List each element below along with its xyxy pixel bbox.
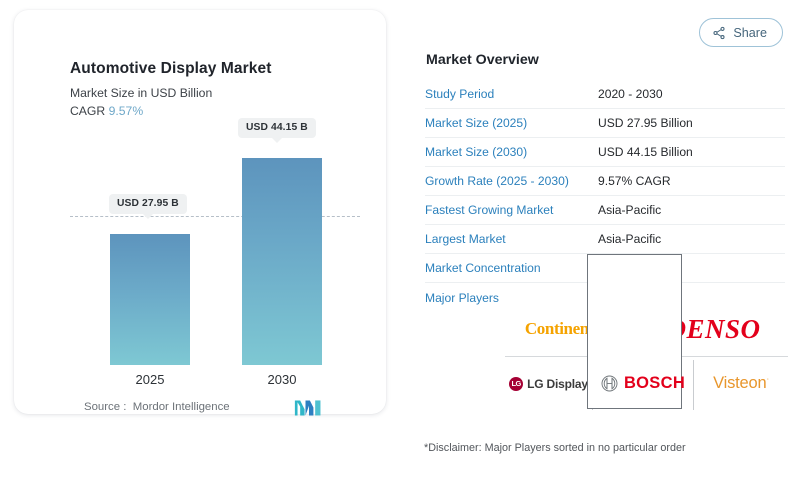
bosch-logo: BOSCH <box>601 374 685 393</box>
visteon-logo: Visteon· <box>713 374 769 393</box>
logo-cell-lg-display: LG LG Display <box>505 357 592 410</box>
row-label: Market Concentration <box>425 261 598 275</box>
row-value: Asia-Pacific <box>598 203 661 217</box>
disclaimer-text: *Disclaimer: Major Players sorted in no … <box>424 442 686 454</box>
logo-cell-bosch: BOSCH <box>593 357 693 410</box>
lg-display-logo-text: LG Display <box>527 377 588 391</box>
table-row: Largest Market Asia-Pacific <box>425 225 785 254</box>
bar-chart-plot-area: USD 27.95 B USD 44.15 B 2025 2030 <box>70 140 360 365</box>
table-row: Growth Rate (2025 - 2030) 9.57% CAGR <box>425 167 785 196</box>
bosch-logo-text: BOSCH <box>624 374 685 393</box>
market-overview-title: Market Overview <box>426 52 539 68</box>
row-label: Fastest Growing Market <box>425 203 598 217</box>
row-label: Market Size (2030) <box>425 145 598 159</box>
source-row: Source : Mordor Intelligence <box>84 401 230 413</box>
cagr-value: 9.57% <box>109 104 144 118</box>
bar-2030[interactable] <box>242 158 322 365</box>
row-label: Market Size (2025) <box>425 116 598 130</box>
major-players-logo-grid: Continental⚲ DENSO LG LG Display BOSCH V… <box>505 303 788 410</box>
lg-display-logo: LG LG Display <box>509 377 588 391</box>
source-name: Mordor Intelligence <box>133 401 230 413</box>
bar-label-2030: USD 44.15 B <box>238 118 316 138</box>
bosch-anchor-icon <box>601 375 618 392</box>
row-value: 2020 - 2030 <box>598 87 663 101</box>
source-label: Source : <box>84 401 126 413</box>
table-row: Fastest Growing Market Asia-Pacific <box>425 196 785 225</box>
share-button-label: Share <box>733 26 767 40</box>
lg-roundel-icon: LG <box>509 377 523 391</box>
visteon-logo-text: Visteon <box>713 374 766 392</box>
row-label: Study Period <box>425 87 598 101</box>
chart-subtitle: Market Size in USD Billion <box>70 86 212 100</box>
visteon-trademark-icon: · <box>766 375 768 384</box>
row-label: Growth Rate (2025 - 2030) <box>425 174 598 188</box>
cagr-label: CAGR <box>70 104 105 118</box>
bar-label-2025: USD 27.95 B <box>109 194 187 214</box>
cagr-line: CAGR 9.57% <box>70 104 143 118</box>
row-label: Largest Market <box>425 232 598 246</box>
row-value: Asia-Pacific <box>598 232 661 246</box>
row-value: USD 44.15 Billion <box>598 145 693 159</box>
row-value: 9.57% CAGR <box>598 174 671 188</box>
x-axis-label-2030: 2030 <box>242 372 322 387</box>
chart-card: Automotive Display Market Market Size in… <box>14 10 386 414</box>
bar-2025[interactable] <box>110 234 190 365</box>
logo-cell-visteon: Visteon· <box>694 357 788 410</box>
share-button[interactable]: Share <box>699 18 783 47</box>
table-row: Market Size (2030) USD 44.15 Billion <box>425 138 785 167</box>
x-axis-label-2025: 2025 <box>110 372 190 387</box>
table-row: Study Period 2020 - 2030 <box>425 80 785 109</box>
chart-title: Automotive Display Market <box>70 60 271 78</box>
share-icon <box>712 26 726 40</box>
table-row: Market Size (2025) USD 27.95 Billion <box>425 109 785 138</box>
row-value: USD 27.95 Billion <box>598 116 693 130</box>
mordor-intelligence-logo <box>294 398 324 417</box>
